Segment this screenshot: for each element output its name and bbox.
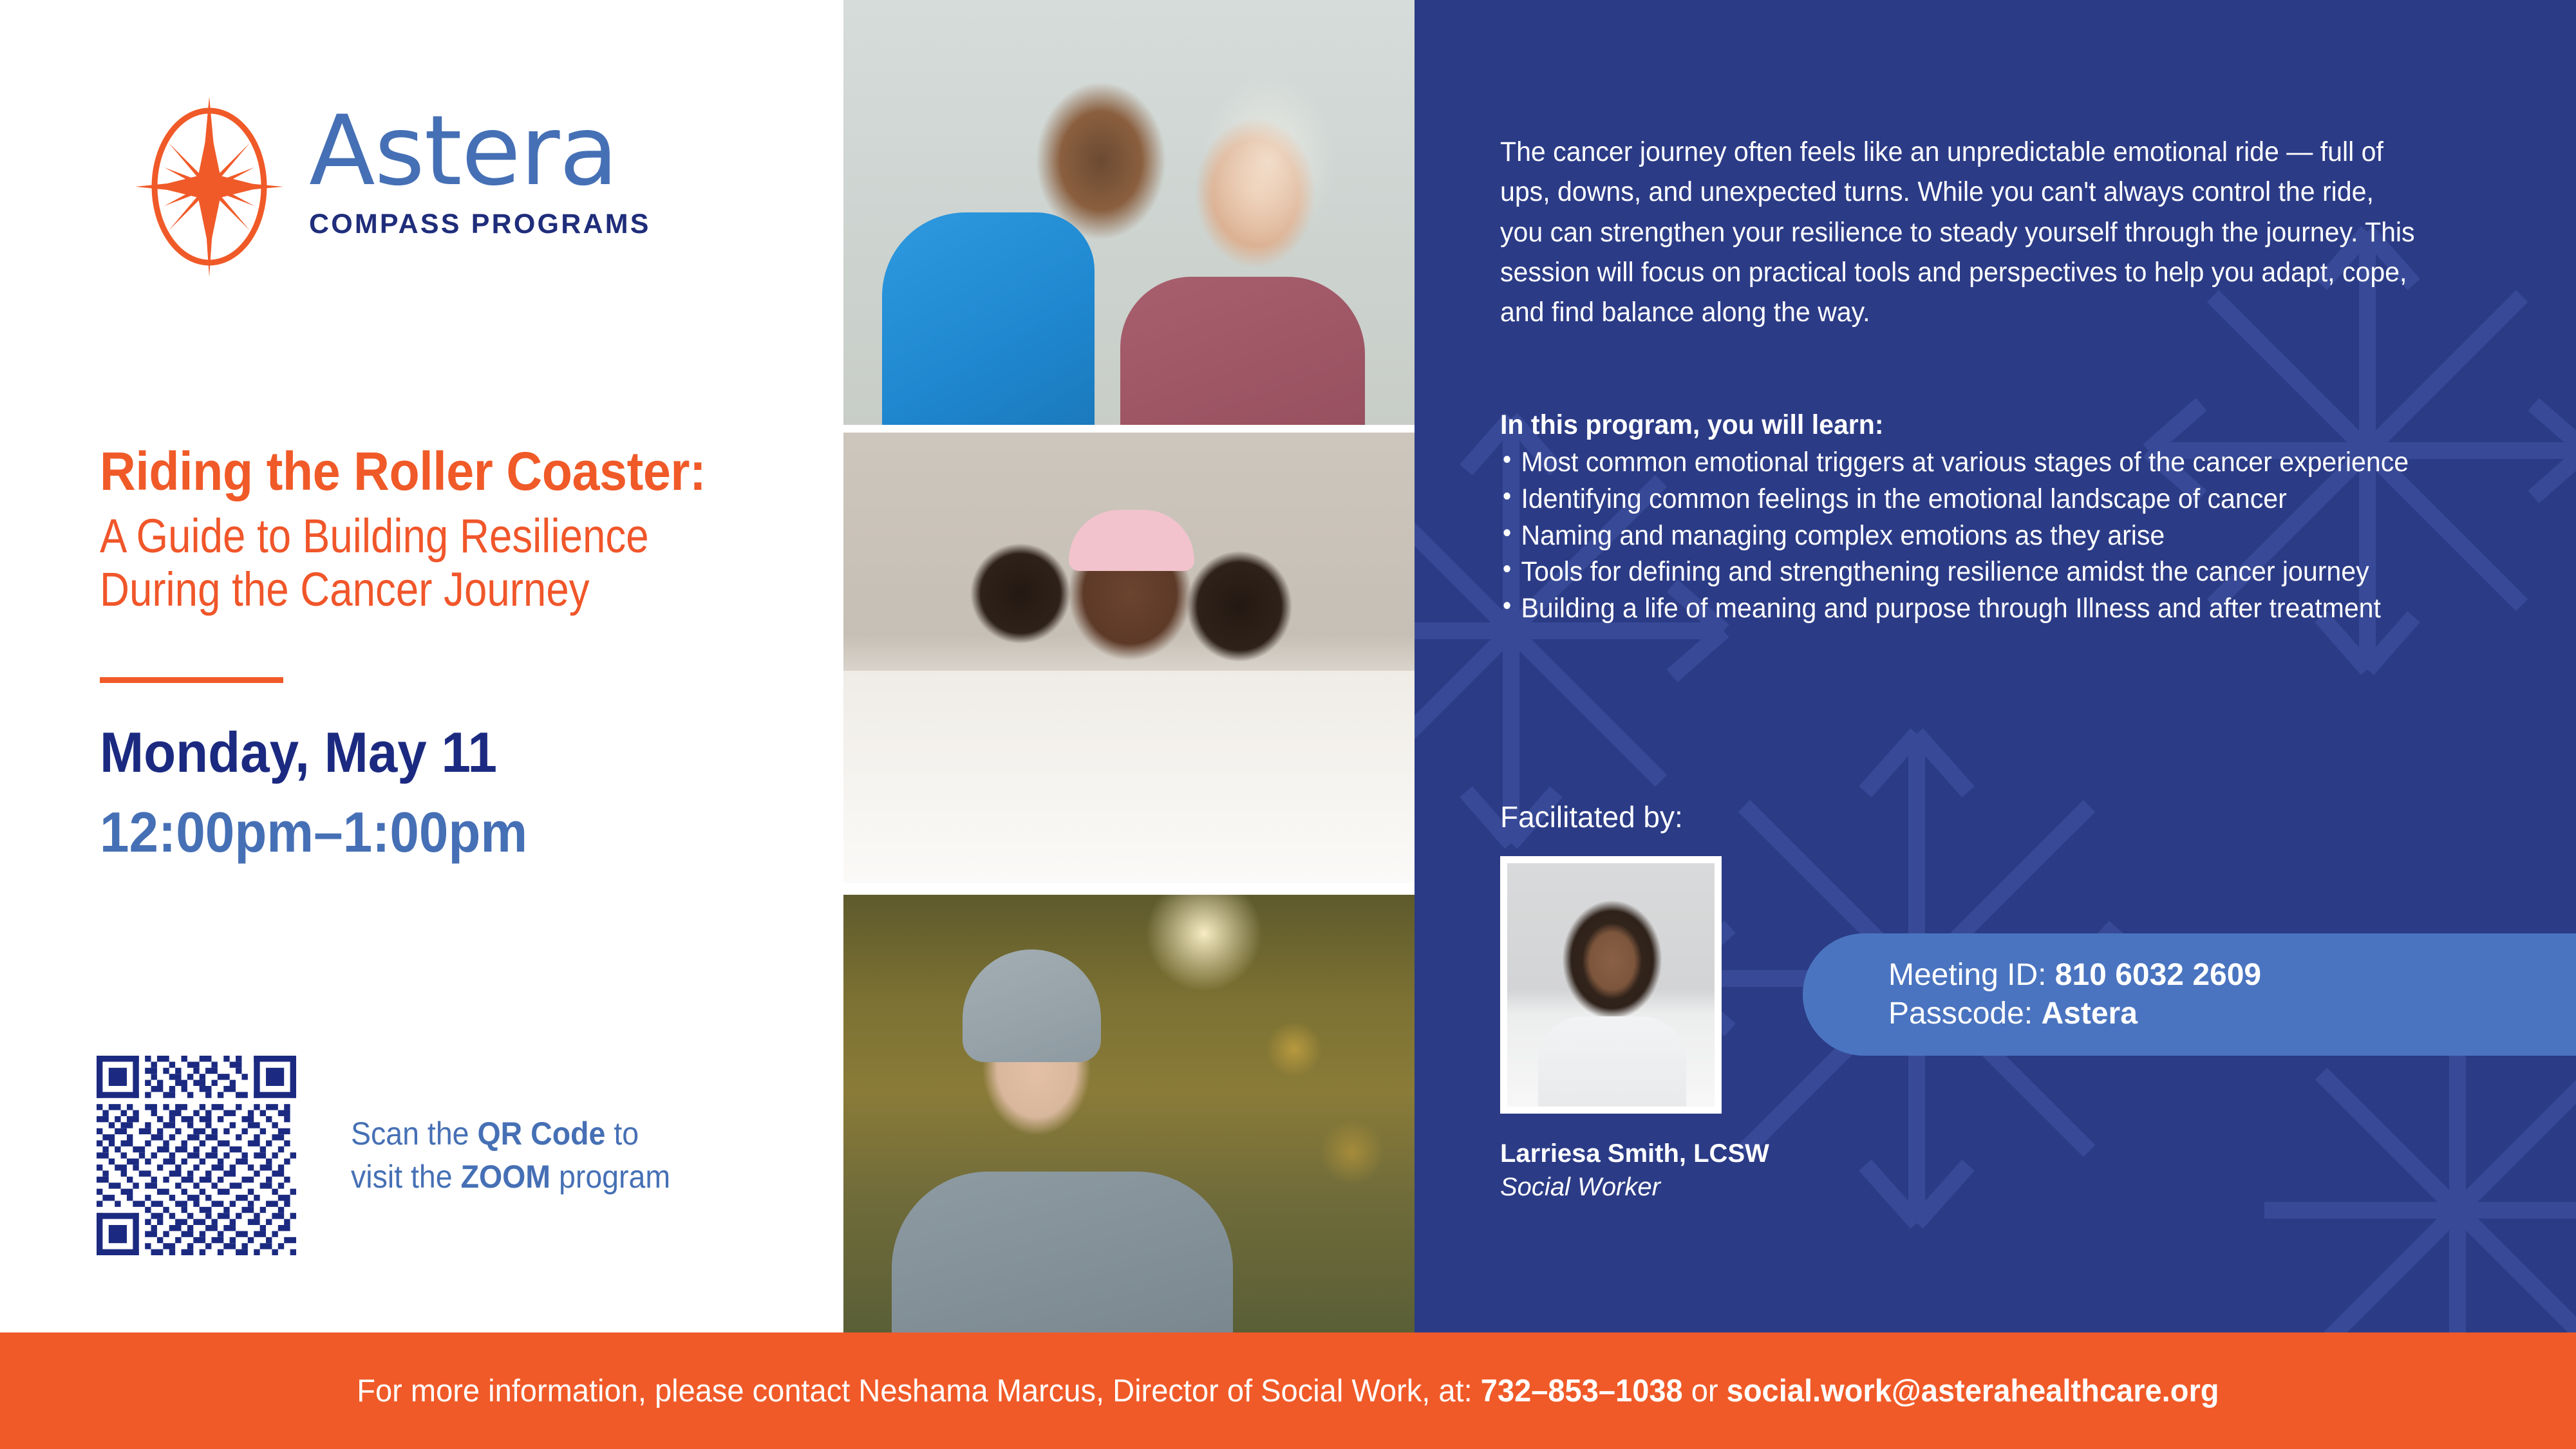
qr-block: Scan the QR Code to visit the ZOOM progr…	[97, 1056, 694, 1255]
mother-with-children-photo	[843, 433, 1415, 883]
title-sub-line-1: A Guide to Building Resilience	[100, 510, 731, 563]
title-sub-line-2: During the Cancer Journey	[100, 563, 731, 617]
qr-caption-text-2: to	[605, 1116, 639, 1152]
facilitator-name: Larriesa Smith, LCSW	[1500, 1139, 1769, 1168]
logo-subtitle: COMPASS PROGRAMS	[309, 209, 651, 240]
footer-phone[interactable]: 732–853–1038	[1481, 1374, 1683, 1408]
passcode-value: Astera	[2041, 996, 2137, 1031]
contact-footer-bar: For more information, please contact Nes…	[0, 1332, 2576, 1449]
info-panel: The cancer journey often feels like an u…	[1415, 0, 2576, 1332]
passcode-label: Passcode:	[1888, 996, 2041, 1031]
qr-caption-text-1: Scan the	[351, 1116, 477, 1152]
footer-conjunction: or	[1683, 1374, 1727, 1408]
flyer-page: Astera COMPASS PROGRAMS Riding the Rolle…	[0, 0, 2576, 1449]
qr-code-icon[interactable]	[97, 1056, 296, 1255]
qr-caption-bold-zoom: ZOOM	[461, 1159, 550, 1195]
qr-caption-text-3: visit the	[351, 1159, 461, 1195]
event-date: Monday, May 11	[100, 724, 527, 781]
footer-contact-text: For more information, please contact Nes…	[357, 1373, 2219, 1409]
qr-caption-text-4: program	[550, 1159, 670, 1195]
photo-column	[843, 0, 1415, 1332]
meeting-id-label: Meeting ID:	[1888, 958, 2055, 992]
facilitator-role: Social Worker	[1500, 1173, 1660, 1202]
program-title: Riding the Roller Coaster: A Guide to Bu…	[100, 444, 834, 617]
passcode-line: Passcode: Astera	[1888, 995, 2576, 1033]
learn-heading: In this program, you will learn:	[1500, 409, 2423, 441]
footer-email[interactable]: social.work@asterahealthcare.org	[1727, 1374, 2219, 1408]
left-column: Astera COMPASS PROGRAMS Riding the Rolle…	[0, 0, 843, 1332]
qr-caption-bold-qr: QR Code	[477, 1116, 605, 1152]
learning-objectives-list: Most common emotional triggers at variou…	[1500, 444, 2435, 627]
meeting-credentials-pill: Meeting ID: 810 6032 2609 Passcode: Aste…	[1803, 933, 2576, 1056]
facilitator-headshot	[1500, 856, 1722, 1114]
nurse-with-senior-patient-photo	[843, 0, 1415, 425]
title-main-line: Riding the Roller Coaster:	[100, 444, 775, 498]
woman-outdoors-photo	[843, 895, 1415, 1332]
list-item: Most common emotional triggers at variou…	[1500, 444, 2435, 481]
list-item: Tools for defining and strengthening res…	[1500, 554, 2435, 590]
title-divider-rule	[100, 677, 283, 683]
event-time: 12:00pm–1:00pm	[100, 804, 527, 861]
compass-rose-icon	[135, 97, 283, 277]
list-item: Identifying common feelings in the emoti…	[1500, 481, 2435, 518]
schedule-block: Monday, May 11 12:00pm–1:00pm	[100, 724, 559, 861]
list-item: Building a life of meaning and purpose t…	[1500, 590, 2435, 627]
qr-caption: Scan the QR Code to visit the ZOOM progr…	[351, 1112, 670, 1199]
logo-wordmark: Astera	[309, 103, 651, 200]
facilitated-by-label: Facilitated by:	[1500, 799, 1683, 834]
list-item: Naming and managing complex emotions as …	[1500, 518, 2435, 554]
astera-logo: Astera COMPASS PROGRAMS	[135, 97, 747, 283]
intro-paragraph: The cancer journey often feels like an u…	[1500, 132, 2423, 333]
meeting-id-line: Meeting ID: 810 6032 2609	[1888, 956, 2576, 995]
meeting-id-value: 810 6032 2609	[2055, 958, 2261, 992]
footer-prefix: For more information, please contact Nes…	[357, 1374, 1480, 1408]
